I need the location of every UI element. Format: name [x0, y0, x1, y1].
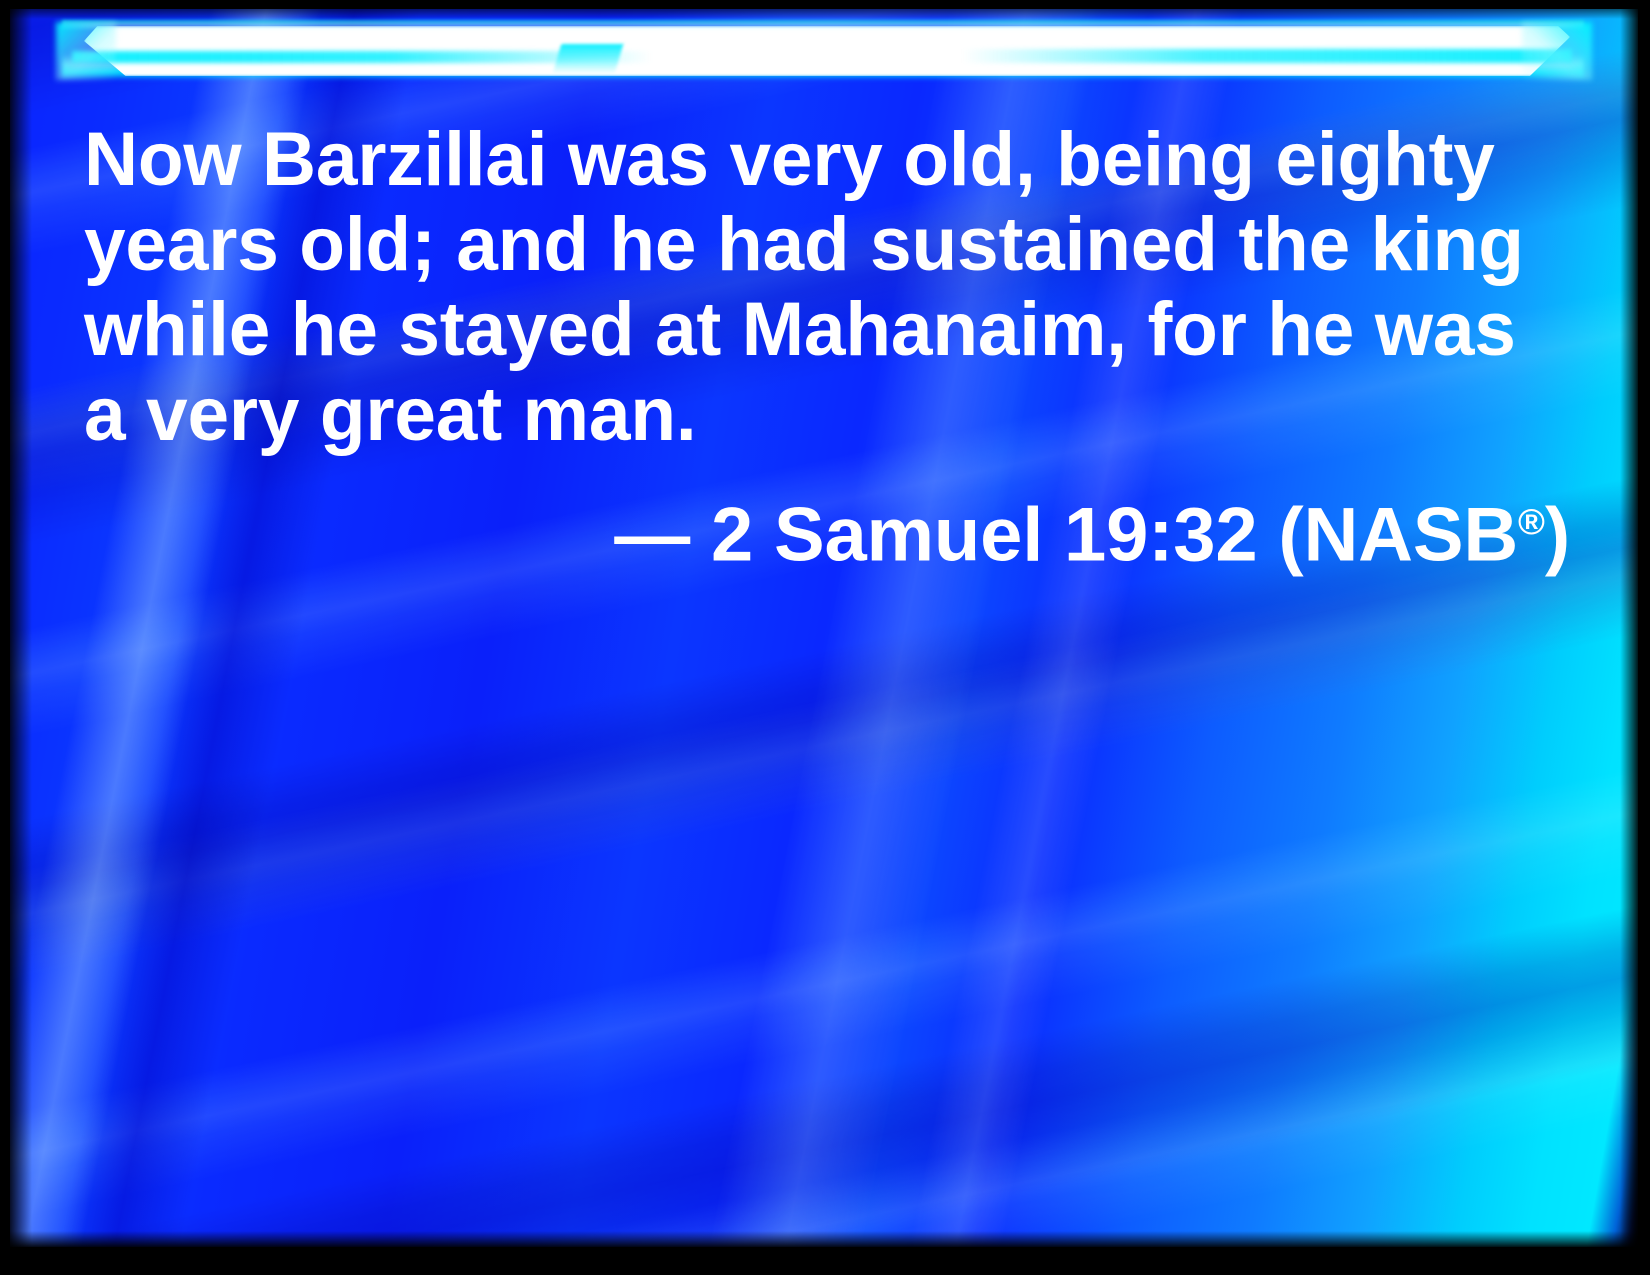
attribution-closing-paren: )	[1545, 492, 1570, 577]
attribution-reference: — 2 Samuel 19:32 (NASB	[614, 492, 1518, 577]
verse-attribution: — 2 Samuel 19:32 (NASB®)	[84, 479, 1574, 577]
slide-canvas: Now Barzillai was very old, being eighty…	[10, 9, 1638, 1247]
verse-body-text: Now Barzillai was very old, being eighty…	[84, 117, 1552, 457]
verse-block: Now Barzillai was very old, being eighty…	[84, 117, 1574, 577]
registered-trademark-icon: ®	[1518, 501, 1545, 542]
slide-frame: Now Barzillai was very old, being eighty…	[0, 0, 1650, 1275]
